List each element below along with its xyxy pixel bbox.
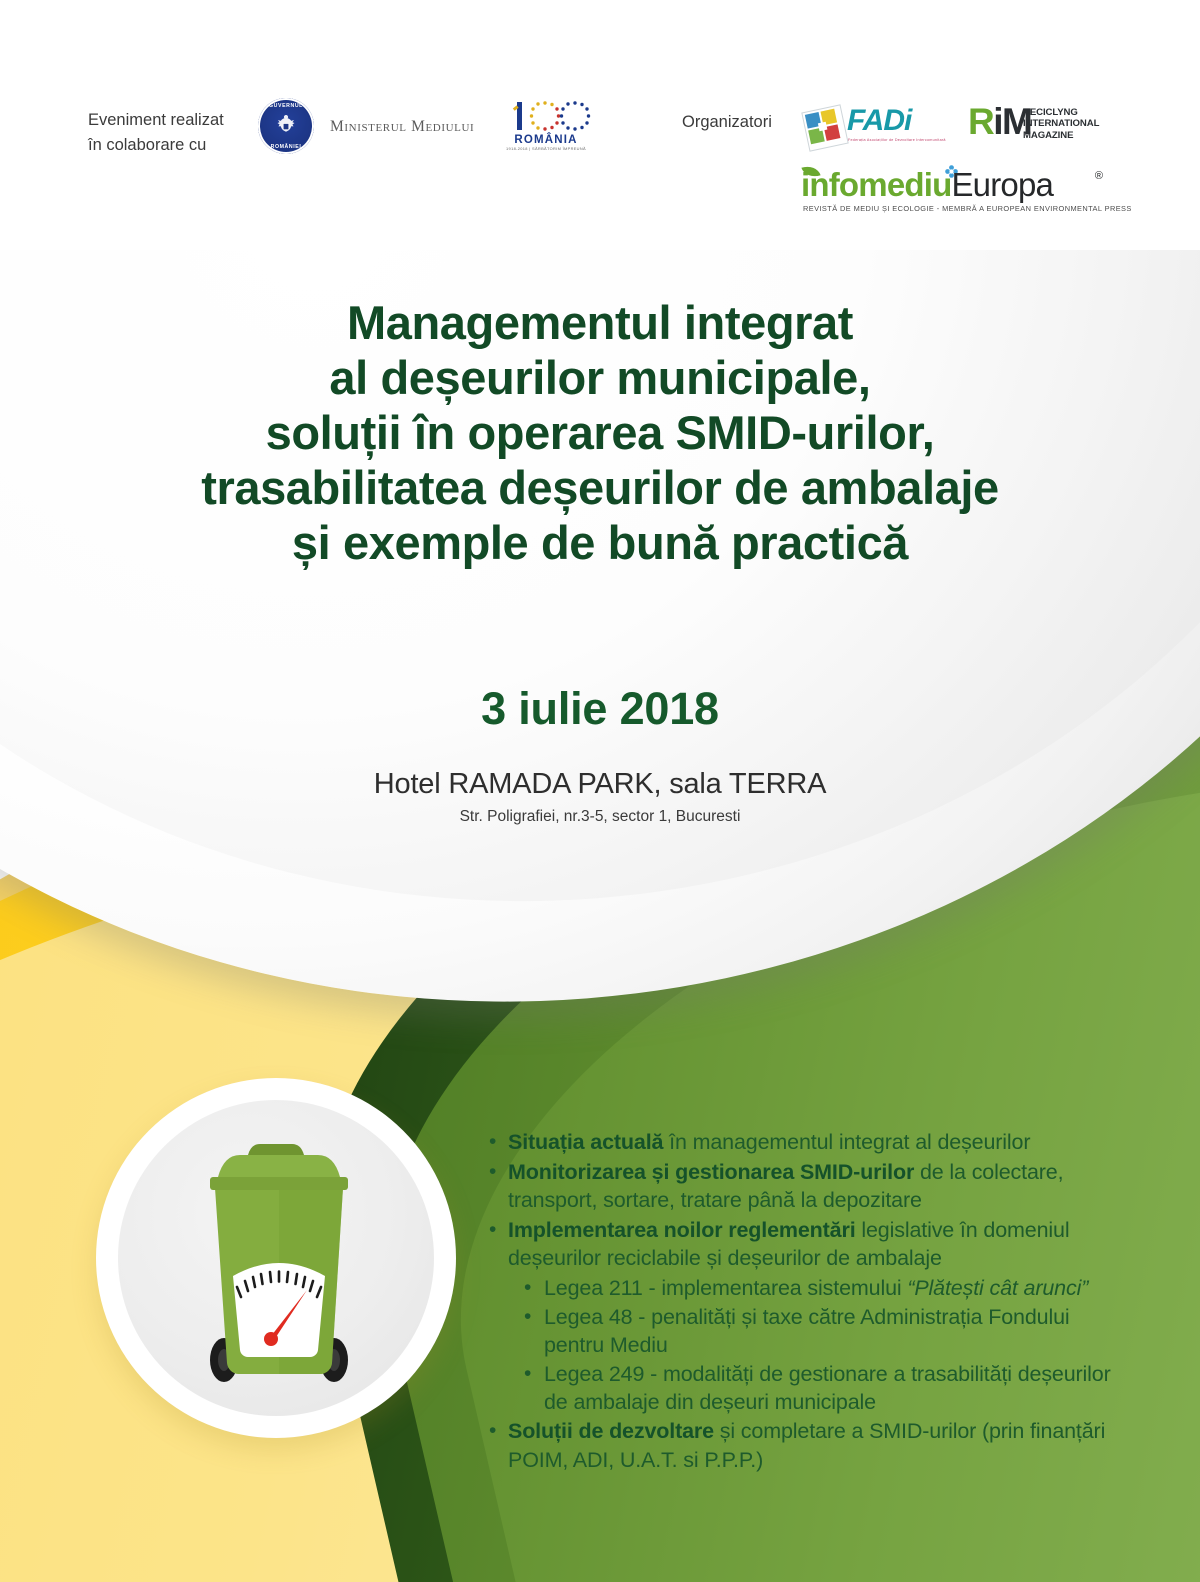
event-poster: Eveniment realizat în colaborare cu GUVE… <box>0 0 1200 1582</box>
ministry-name-label: Ministerul Mediului <box>330 118 474 136</box>
fadi-tagline: Federația Asociațiilor de Dezvoltare Int… <box>848 138 946 142</box>
agenda-sub-item: Legea 48 - penalități și taxe către Admi… <box>486 1303 1126 1360</box>
registered-trademark-icon: ® <box>1095 170 1103 182</box>
organizers-label: Organizatori <box>682 113 772 132</box>
romania-100-mark-icon <box>500 98 592 138</box>
event-date: 3 iulie 2018 <box>0 683 1200 735</box>
agenda-list: Situația actuală în managementul integra… <box>486 1128 1126 1475</box>
infomediu-word-black: Europa <box>951 166 1053 203</box>
agenda-sub-text: Legea 48 - penalități și taxe către Admi… <box>544 1305 1070 1358</box>
gov-seal-bottom-text: ROMÂNIEI <box>258 144 314 150</box>
infomediu-wordmark: infomediuEuropa <box>801 168 1053 201</box>
agenda-item-bold: Implementarea noilor reglementări <box>508 1218 856 1242</box>
rim-tagline: RECICLYNG INTERNATIONAL MAGAZINE <box>1023 107 1099 141</box>
collaboration-label: Eveniment realizat în colaborare cu <box>88 108 248 158</box>
agenda-sub-item: Legea 211 - implementarea sistemului “Pl… <box>486 1274 1126 1303</box>
title-line-2: al deșeurilor municipale, <box>0 351 1200 406</box>
waste-bin-with-scale-icon <box>96 1078 456 1438</box>
romanian-eagle-icon <box>271 111 301 141</box>
agenda-item-bold: Soluții de dezvoltare <box>508 1419 714 1443</box>
poster-header: Eveniment realizat în colaborare cu GUVE… <box>0 0 1200 240</box>
title-line-3: soluții în operarea SMID-urilor, <box>0 406 1200 461</box>
event-address: Str. Poligrafiei, nr.3-5, sector 1, Bucu… <box>0 808 1200 826</box>
romania-100-country-label: ROMÂNIA <box>500 134 592 146</box>
collaboration-label-line2: în colaborare cu <box>88 133 248 158</box>
rim-tagline-line2: INTERNATIONAL <box>1023 118 1099 129</box>
infomediu-tagline: REVISTĂ DE MEDIU ȘI ECOLOGIE - MEMBRĂ A … <box>803 204 1132 213</box>
agenda-item-bold: Situația actuală <box>508 1130 663 1154</box>
fadi-puzzle-icon <box>801 104 848 151</box>
fadi-logo: FADi Federația Asociațiilor de Dezvoltar… <box>803 104 931 150</box>
title-line-4: trasabilitatea deșeurilor de ambalaje <box>0 461 1200 516</box>
agenda-sub-text: Legea 211 - implementarea sistemului <box>544 1276 907 1300</box>
rim-tagline-line3: MAGAZINE <box>1023 130 1099 141</box>
agenda-item: Soluții de dezvoltare și completare a SM… <box>486 1417 1126 1474</box>
agenda-item: Situația actuală în managementul integra… <box>486 1128 1126 1157</box>
government-of-romania-seal-icon: GUVERNUL ROMÂNIEI <box>258 98 314 154</box>
agenda-item-rest: în managementul integrat al deșeurilor <box>663 1130 1030 1154</box>
rim-logo: RiM RECICLYNG INTERNATIONAL MAGAZINE <box>968 103 1103 151</box>
title-line-5: și exemple de bună practică <box>0 516 1200 571</box>
agenda-item-bold: Monitorizarea și gestionarea SMID-urilor <box>508 1160 914 1184</box>
agenda-sub-quote: “Plătești cât arunci” <box>907 1276 1088 1300</box>
rim-letter-r: R <box>968 101 993 142</box>
rim-letter-i: i <box>993 101 1002 142</box>
collaboration-label-line1: Eveniment realizat <box>88 108 248 133</box>
romania-100-sublabel: 1918-2018 | SĂRBĂTORIM ÎMPREUNĂ <box>500 146 592 151</box>
agenda-sub-item: Legea 249 - modalități de gestionare a t… <box>486 1360 1126 1417</box>
event-venue: Hotel RAMADA PARK, sala TERRA <box>0 768 1200 801</box>
agenda-item: Implementarea noilor reglementări legisl… <box>486 1216 1126 1273</box>
rim-tagline-line1: RECICLYNG <box>1023 107 1099 118</box>
rim-mark-icon: RiM <box>968 103 1016 145</box>
infomediu-europa-logo: infomediuEuropa ® REVISTĂ DE MEDIU ȘI EC… <box>795 168 1105 220</box>
waste-bin-illustration <box>96 1078 456 1438</box>
agenda-item: Monitorizarea și gestionarea SMID-urilor… <box>486 1158 1126 1215</box>
agenda-sub-text: Legea 249 - modalități de gestionare a t… <box>544 1362 1111 1415</box>
fadi-wordmark: FADi <box>847 106 911 136</box>
infomediu-word-green: infomediu <box>801 166 951 203</box>
poster-title: Managementul integrat al deșeurilor muni… <box>0 296 1200 571</box>
romania-100-logo: ROMÂNIA 1918-2018 | SĂRBĂTORIM ÎMPREUNĂ <box>500 98 592 156</box>
title-line-1: Managementul integrat <box>0 296 1200 351</box>
gov-seal-top-text: GUVERNUL <box>258 103 314 109</box>
